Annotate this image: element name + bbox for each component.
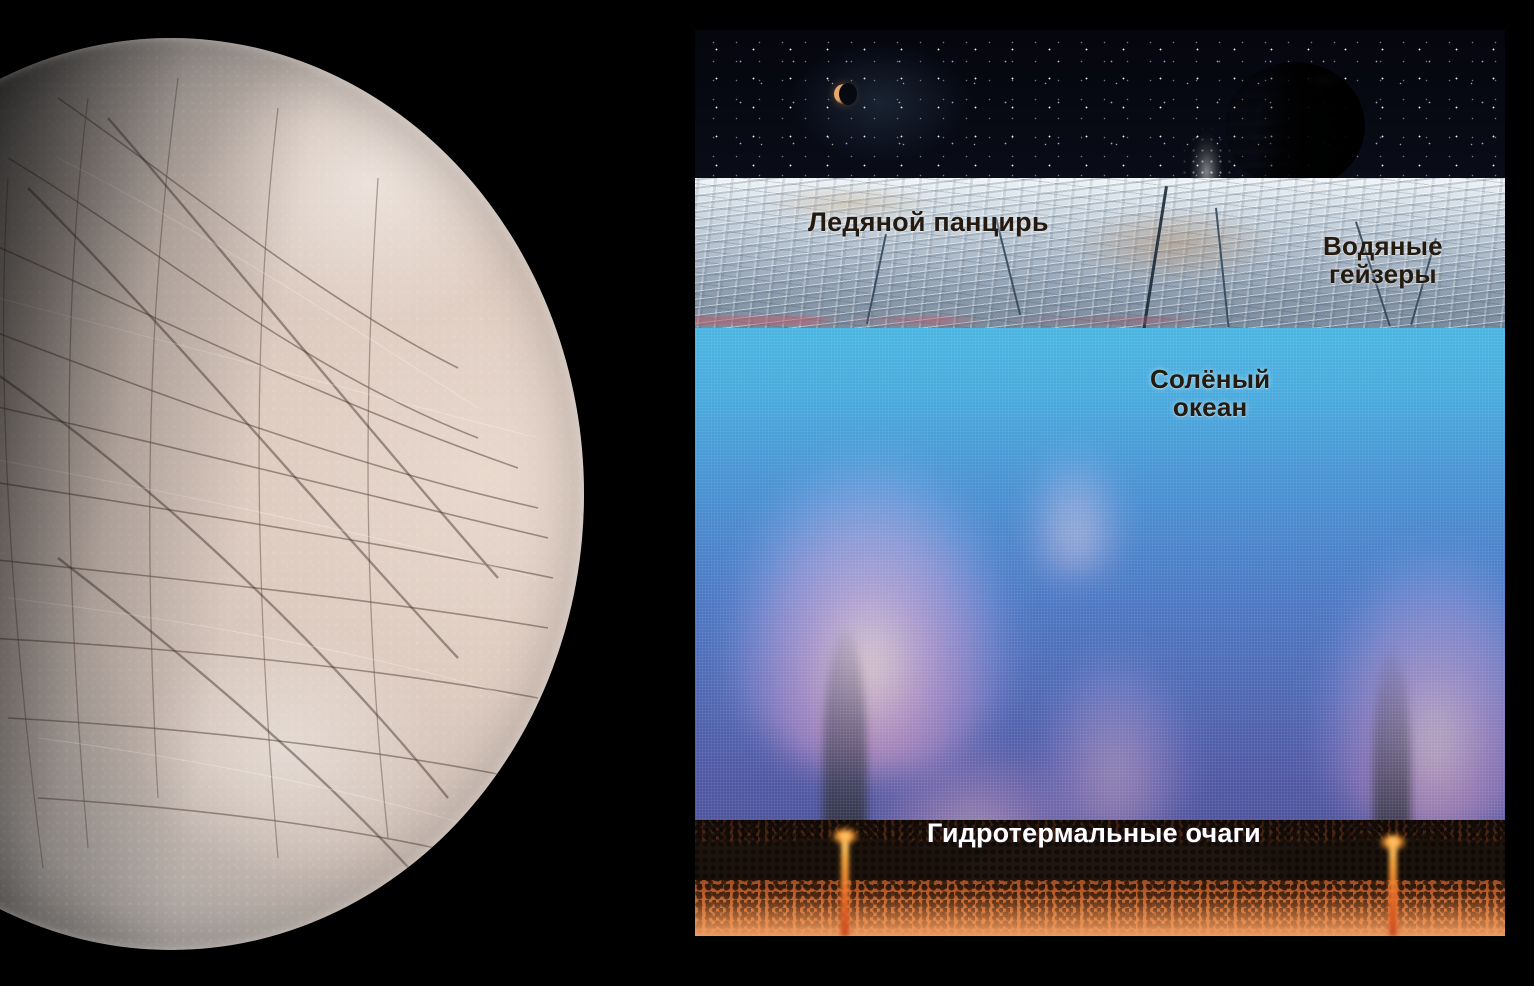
- lava-conduit-right: [1389, 838, 1397, 936]
- vent-mouth-glow-right: [1380, 834, 1406, 850]
- europa-globe: [0, 38, 584, 950]
- label-water-geysers: Водяные гейзеры: [1323, 233, 1443, 288]
- label-hydrothermal-vents: Гидротермальные очаги: [927, 819, 1261, 848]
- ice-tint-center: [1068, 205, 1279, 283]
- nebula-glow: [790, 42, 970, 162]
- salty-ocean-layer: [695, 328, 1505, 848]
- geyser-spray-sky: [1171, 90, 1249, 185]
- label-salty-ocean: Солёный океан: [1150, 366, 1270, 421]
- lava-conduit-left: [841, 834, 849, 936]
- vent-mouth-glow-left: [832, 828, 858, 844]
- io-moon-icon: [834, 84, 854, 104]
- illustration-stage: Ледяной панцирь Водяные гейзеры Солёный …: [0, 0, 1534, 986]
- label-ice-shell: Ледяной панцирь: [808, 208, 1049, 237]
- sky-layer: [695, 30, 1505, 185]
- europa-photo-panel: [0, 0, 695, 986]
- ocean-grain: [695, 328, 1505, 848]
- cross-section-panel: Ледяной панцирь Водяные гейзеры Солёный …: [695, 30, 1505, 936]
